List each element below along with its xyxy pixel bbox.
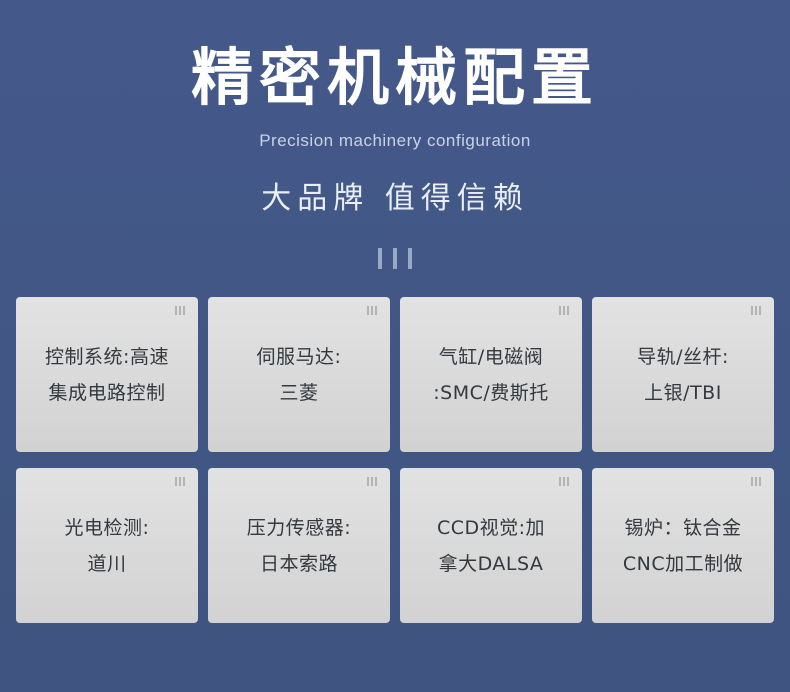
banner-header: 精密机械配置 Precision machinery configuration…	[0, 0, 790, 217]
card-mark-icon	[751, 306, 761, 315]
card-line-1: 控制系统:高速	[45, 339, 169, 375]
card-line-1: 压力传感器:	[247, 510, 351, 546]
card-line-2: 拿大DALSA	[439, 546, 544, 582]
promo-banner: 精密机械配置 Precision machinery configuration…	[0, 0, 790, 692]
card-mark-icon	[367, 306, 377, 315]
card-mark-icon	[367, 477, 377, 486]
divider-marks	[378, 247, 412, 269]
divider-bar-2	[393, 248, 397, 269]
card-line-2: 日本索路	[260, 546, 338, 582]
page-subtitle-en: Precision machinery configuration	[0, 131, 790, 151]
card-line-2: 道川	[87, 546, 126, 582]
spec-card: 压力传感器: 日本索路	[208, 468, 390, 623]
page-title: 精密机械配置	[0, 42, 790, 113]
page-tagline: 大品牌 值得信赖	[0, 173, 790, 217]
card-line-2: 集成电路控制	[48, 375, 165, 411]
spec-card: 锡炉：钛合金 CNC加工制做	[592, 468, 774, 623]
card-mark-icon	[559, 477, 569, 486]
spec-card: 伺服马达: 三菱	[208, 297, 390, 452]
card-line-1: 气缸/电磁阀	[439, 339, 543, 375]
spec-card-grid: 控制系统:高速 集成电路控制 伺服马达: 三菱 气缸/电磁阀 :SMC/费斯托 …	[16, 297, 774, 623]
card-line-1: 导轨/丝杆:	[637, 339, 729, 375]
spec-card: CCD视觉:加 拿大DALSA	[400, 468, 582, 623]
card-line-1: CCD视觉:加	[437, 510, 545, 546]
card-line-1: 伺服马达:	[257, 339, 342, 375]
card-mark-icon	[175, 477, 185, 486]
spec-card: 导轨/丝杆: 上银/TBI	[592, 297, 774, 452]
card-mark-icon	[559, 306, 569, 315]
card-line-1: 锡炉：钛合金	[624, 510, 741, 546]
card-line-2: CNC加工制做	[623, 546, 743, 582]
divider-bar-1	[378, 248, 382, 269]
card-line-2: 上银/TBI	[644, 375, 722, 411]
card-line-2: :SMC/费斯托	[433, 375, 549, 411]
card-line-2: 三菱	[279, 375, 318, 411]
spec-card: 光电检测: 道川	[16, 468, 198, 623]
spec-card: 气缸/电磁阀 :SMC/费斯托	[400, 297, 582, 452]
card-mark-icon	[751, 477, 761, 486]
card-line-1: 光电检测:	[65, 510, 150, 546]
divider-bar-3	[408, 248, 412, 269]
card-mark-icon	[175, 306, 185, 315]
spec-card: 控制系统:高速 集成电路控制	[16, 297, 198, 452]
